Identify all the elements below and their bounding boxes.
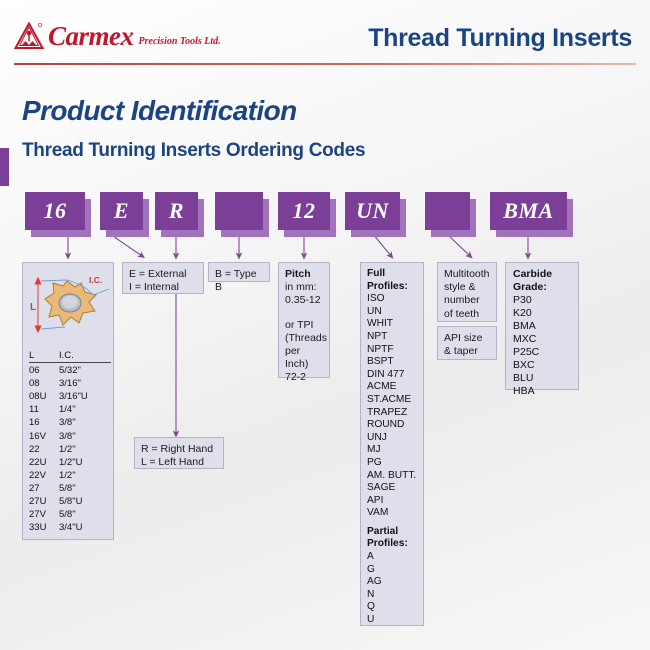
list-item: MXC	[513, 333, 571, 346]
list-item: BMA	[513, 320, 571, 333]
list-item: A	[367, 551, 417, 564]
size-table-header: L I.C.	[29, 349, 111, 363]
size-cell-ic: 5/32"	[59, 364, 109, 377]
size-cell-ic: 3/8"	[59, 416, 109, 429]
list-item: MJ	[367, 444, 417, 457]
size-cell-l: 22U	[29, 456, 59, 469]
table-row: 27V5/8"	[29, 508, 111, 521]
list-item: G	[367, 564, 417, 577]
code-box-face: BMA	[490, 192, 567, 230]
size-cell-ic: 3/4"U	[59, 521, 109, 534]
pitch-mm-range: 0.35-12	[285, 294, 323, 307]
multitooth-line-3: number	[444, 294, 490, 307]
list-item: BXC	[513, 359, 571, 372]
pitch-box: Pitch in mm: 0.35-12 or TPI (Threads per…	[278, 262, 330, 378]
brand-logo: Carmex Precision Tools Ltd.	[14, 22, 221, 50]
list-item: P30	[513, 294, 571, 307]
list-item: ISO	[367, 293, 417, 306]
code-box-face: 12	[278, 192, 330, 230]
size-cell-l: 06	[29, 364, 59, 377]
size-cell-ic: 1/4"	[59, 403, 109, 416]
list-item: TRAPEZ	[367, 407, 417, 420]
code-box-direction[interactable]: R	[155, 192, 198, 230]
list-item: HBA	[513, 385, 571, 398]
multitooth-box: Multitooth style & number of teeth	[437, 262, 497, 322]
size-cell-l: 16V	[29, 430, 59, 443]
header-title: Thread Turning Inserts	[368, 24, 632, 53]
partial-profiles-heading-1: Partial	[367, 526, 417, 539]
multitooth-line-4: of teeth	[444, 308, 490, 321]
table-row: 275/8"	[29, 482, 111, 495]
code-box-face: R	[155, 192, 198, 230]
list-item: ST.ACME	[367, 394, 417, 407]
table-row: 083/16"	[29, 377, 111, 390]
multitooth-line-1: Multitooth	[444, 268, 490, 281]
pitch-heading: Pitch	[285, 268, 323, 281]
code-box-face	[425, 192, 470, 230]
code-box-face: UN	[345, 192, 400, 230]
list-item: AM. BUTT.	[367, 470, 417, 483]
code-box-value: 16	[44, 198, 67, 224]
full-profiles-heading-1: Full	[367, 268, 417, 281]
table-row: 163/8"	[29, 416, 111, 429]
direction-left-label: L = Left Hand	[141, 456, 217, 469]
size-cell-ic: 5/8"U	[59, 495, 109, 508]
hand-internal-label: I = Internal	[129, 281, 197, 294]
size-cell-l: 27V	[29, 508, 59, 521]
size-reference-box: L I.C. L I.C. 065/32" 083/16" 08U3/16"U …	[22, 262, 114, 540]
table-row: 16V3/8"	[29, 430, 111, 443]
code-box-hand[interactable]: E	[100, 192, 143, 230]
list-item: NPTF	[367, 344, 417, 357]
pitch-tpi-range: 72-2	[285, 371, 323, 384]
list-item: AG	[367, 576, 417, 589]
list-item: API	[367, 495, 417, 508]
api-line-1: API size	[444, 332, 490, 345]
code-box-pitch[interactable]: 12	[278, 192, 330, 230]
size-table: L I.C. 065/32" 083/16" 08U3/16"U 111/4" …	[29, 349, 111, 534]
carbide-heading-2: Grade:	[513, 281, 571, 294]
brand-tagline: Precision Tools Ltd.	[139, 36, 221, 47]
api-line-2: & taper	[444, 345, 490, 358]
pitch-tpi-note1: (Threads	[285, 332, 323, 345]
list-item: BLU	[513, 372, 571, 385]
list-item: VAM	[367, 507, 417, 520]
table-row: 08U3/16"U	[29, 390, 111, 403]
size-cell-l: 08	[29, 377, 59, 390]
code-box-value: R	[169, 198, 184, 224]
type-box: B = Type B	[208, 262, 270, 282]
table-row: 22U1/2"U	[29, 456, 111, 469]
hand-external-label: E = External	[129, 268, 197, 281]
list-item: U	[367, 614, 417, 627]
code-box-face: E	[100, 192, 143, 230]
brand-name: Carmex	[48, 23, 134, 50]
direction-box: R = Right Hand L = Left Hand	[134, 437, 224, 469]
size-col-l: L	[29, 349, 59, 362]
size-cell-ic: 1/2"U	[59, 456, 109, 469]
left-accent-bar	[0, 148, 9, 186]
size-cell-l: 11	[29, 403, 59, 416]
size-cell-ic: 3/16"	[59, 377, 109, 390]
table-row: 221/2"	[29, 443, 111, 456]
size-cell-ic: 1/2"	[59, 443, 109, 456]
list-item: BSPT	[367, 356, 417, 369]
table-row: 27U5/8"U	[29, 495, 111, 508]
size-cell-ic: 3/16"U	[59, 390, 109, 403]
code-box-profile[interactable]: UN	[345, 192, 400, 230]
list-item: Q	[367, 601, 417, 614]
size-cell-l: 27U	[29, 495, 59, 508]
code-box-multitooth[interactable]	[425, 192, 470, 230]
size-cell-ic: 1/2"	[59, 469, 109, 482]
size-cell-ic: 5/8"	[59, 482, 109, 495]
svg-text:L: L	[30, 302, 36, 313]
profiles-box: Full Profiles: ISO UN WHIT NPT NPTF BSPT…	[360, 262, 424, 626]
code-box-type[interactable]	[215, 192, 263, 230]
pitch-tpi-label: or TPI	[285, 319, 323, 332]
size-cell-l: 27	[29, 482, 59, 495]
page-background: Carmex Precision Tools Ltd. Thread Turni…	[0, 0, 650, 650]
list-item: NPT	[367, 331, 417, 344]
pitch-tpi-note2: per Inch)	[285, 345, 323, 371]
list-item: WHIT	[367, 318, 417, 331]
code-box-face	[215, 192, 263, 230]
code-box-size[interactable]: 16	[25, 192, 85, 230]
table-row: 22V1/2"	[29, 469, 111, 482]
carmex-triangle-logo-icon	[14, 22, 44, 50]
list-item: DIN 477	[367, 369, 417, 382]
list-item: ACME	[367, 381, 417, 394]
insert-diagram-icon: L I.C.	[23, 265, 115, 347]
carbide-grade-box: Carbide Grade: P30 K20 BMA MXC P25C BXC …	[505, 262, 579, 390]
table-row: 111/4"	[29, 403, 111, 416]
code-box-face: 16	[25, 192, 85, 230]
hand-orientation-box: E = External I = Internal	[122, 262, 204, 294]
page-subtitle: Thread Turning Inserts Ordering Codes	[22, 140, 365, 162]
full-profiles-heading-2: Profiles:	[367, 281, 417, 294]
direction-right-label: R = Right Hand	[141, 443, 217, 456]
multitooth-line-2: style &	[444, 281, 490, 294]
size-cell-ic: 3/8"	[59, 430, 109, 443]
list-item: SAGE	[367, 482, 417, 495]
partial-profiles-heading-2: Profiles:	[367, 538, 417, 551]
list-item: ROUND	[367, 419, 417, 432]
list-item: UNJ	[367, 432, 417, 445]
page-title: Product Identification	[22, 95, 297, 127]
list-item: UN	[367, 306, 417, 319]
size-cell-ic: 5/8"	[59, 508, 109, 521]
svg-text:I.C.: I.C.	[89, 275, 102, 285]
page-header: Carmex Precision Tools Ltd. Thread Turni…	[0, 0, 650, 72]
code-box-value: BMA	[503, 198, 553, 224]
list-item: PG	[367, 457, 417, 470]
api-box: API size & taper	[437, 326, 497, 360]
carbide-heading-1: Carbide	[513, 268, 571, 281]
type-b-label: B = Type B	[215, 268, 263, 294]
size-cell-l: 33U	[29, 521, 59, 534]
table-row: 33U3/4"U	[29, 521, 111, 534]
size-cell-l: 16	[29, 416, 59, 429]
size-cell-l: 22V	[29, 469, 59, 482]
pitch-spacer	[285, 308, 323, 319]
table-row: 065/32"	[29, 364, 111, 377]
code-box-value: 12	[293, 198, 316, 224]
size-cell-l: 22	[29, 443, 59, 456]
code-box-carbide[interactable]: BMA	[490, 192, 567, 230]
list-item: K20	[513, 307, 571, 320]
code-box-value: UN	[356, 198, 389, 224]
header-divider	[14, 63, 636, 65]
size-cell-l: 08U	[29, 390, 59, 403]
list-item: N	[367, 589, 417, 602]
code-box-value: E	[114, 198, 129, 224]
pitch-mm-label: in mm:	[285, 281, 323, 294]
list-item: P25C	[513, 346, 571, 359]
size-col-ic: I.C.	[59, 349, 109, 362]
